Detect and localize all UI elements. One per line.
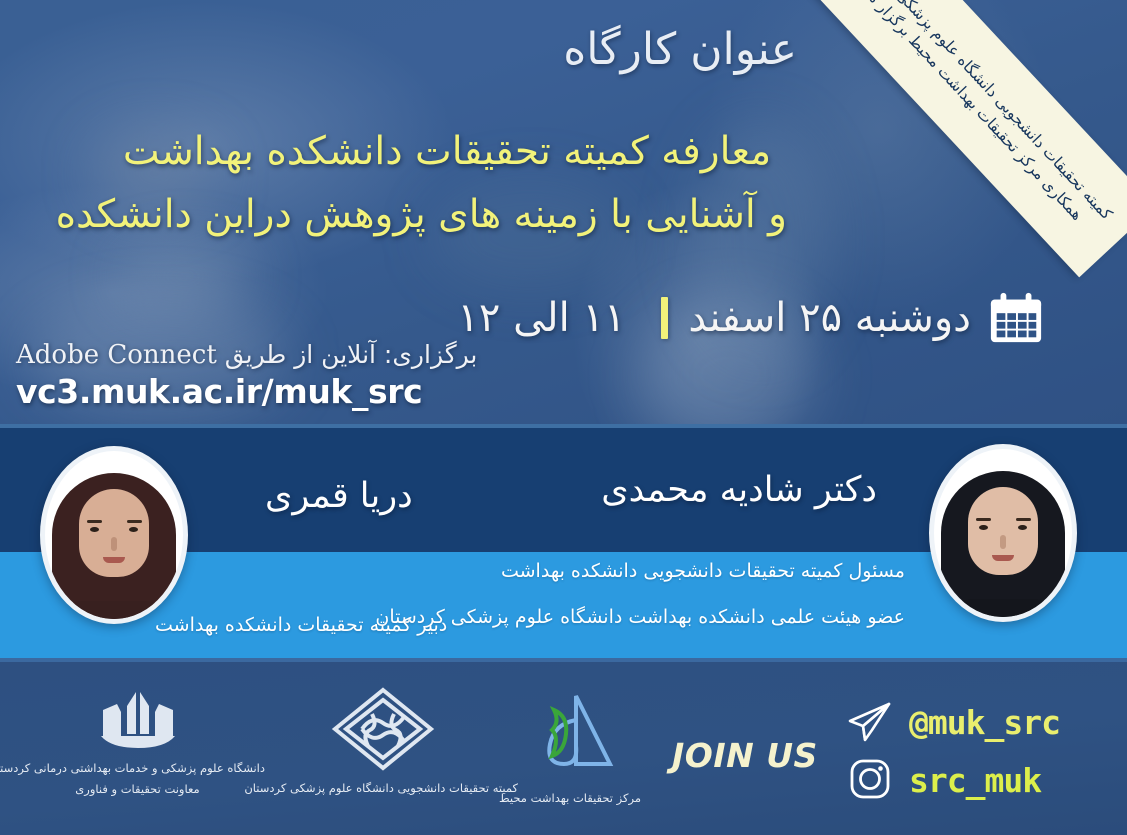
instagram-handle[interactable]: src_muk (909, 761, 1041, 800)
eye-shape (1018, 525, 1027, 530)
telegram-handle[interactable]: @muk_src (909, 703, 1060, 742)
speaker-photo-left (40, 446, 188, 624)
logo-university: دانشگاه علوم پزشکی و خدمات بهداشتی درمان… (10, 690, 265, 797)
logo-env-caption-line-1: مرکز تحقیقات بهداشت محیط (470, 790, 670, 807)
eye-shape (129, 527, 138, 532)
face-shape (79, 489, 149, 577)
eyebrow-shape (1016, 518, 1031, 521)
eye-shape (979, 525, 988, 530)
face-shape (968, 487, 1038, 575)
background-blur-shape (120, 245, 250, 307)
eyebrow-shape (976, 518, 991, 521)
event-date: دوشنبه ۲۵ اسفند (688, 295, 971, 341)
open-book-logo-icon (95, 690, 181, 752)
eyebrow-shape (87, 520, 102, 523)
platform-block: برگزاری: آنلاین از طریق Adobe Connect vc… (16, 340, 477, 411)
eye-shape (90, 527, 99, 532)
platform-url[interactable]: vc3.muk.ac.ir/muk_src (16, 372, 477, 411)
diamond-knot-logo-icon (330, 686, 436, 772)
eyebrow-shape (127, 520, 142, 523)
vertical-bar-divider-icon (661, 297, 668, 339)
logo-university-caption-line-1: دانشگاه علوم پزشکی و خدمات بهداشتی درمان… (10, 760, 265, 777)
calendar-icon (987, 290, 1045, 346)
telegram-icon[interactable] (845, 700, 893, 744)
speaker-role-left-line-1: دبیر کمیته تحقیقات دانشکده بهداشت (155, 614, 447, 636)
social-telegram-row[interactable]: @muk_src (845, 700, 1060, 744)
nose-shape (1000, 535, 1006, 549)
event-time: ۱۱ الی ۱۲ (457, 295, 625, 341)
flask-leaf-logo-icon (520, 690, 620, 782)
social-instagram-row[interactable]: src_muk (845, 758, 1041, 802)
page-title-line-2: و آشنایی با زمینه های پژوهش دراین دانشکد… (107, 183, 787, 246)
page-kicker: عنوان کارگاه (563, 24, 797, 75)
leaf-shape (552, 710, 566, 756)
speaker-role-right-line-1: مسئول کمیته تحقیقات دانشجویی دانشکده بهد… (501, 560, 905, 582)
join-us-label: JOIN US (672, 736, 818, 775)
platform-name: Adobe Connect (16, 340, 217, 370)
event-poster: کمیته تحقیقات دانشجویی دانشگاه علوم پزشک… (0, 0, 1127, 835)
page-title: معارفه کمیته تحقیقات دانشکده بهداشت و آش… (107, 120, 787, 246)
speaker-role-right-line-2: عضو هیئت علمی دانشکده بهداشت دانشگاه علو… (375, 606, 905, 628)
logo-university-caption-line-2: معاونت تحقیقات و فناوری (10, 781, 265, 798)
portrait-illustration (45, 451, 183, 619)
page-title-line-1: معارفه کمیته تحقیقات دانشکده بهداشت (107, 120, 787, 183)
platform-label-row: برگزاری: آنلاین از طریق Adobe Connect (16, 340, 477, 370)
mouth-shape (992, 555, 1014, 561)
speaker-photo-right (929, 444, 1077, 622)
speaker-name-left: دریا قمری (265, 476, 413, 516)
nose-shape (111, 537, 117, 551)
platform-label: برگزاری: آنلاین از طریق (225, 340, 478, 369)
logo-environmental-health-center: مرکز تحقیقات بهداشت محیط (470, 690, 670, 807)
instagram-icon[interactable] (845, 758, 893, 802)
mouth-shape (103, 557, 125, 563)
date-time-row: دوشنبه ۲۵ اسفند ۱۱ الی ۱۲ (457, 290, 1045, 346)
portrait-illustration (934, 449, 1072, 617)
speaker-name-right: دکتر شادیه محمدی (601, 470, 877, 510)
